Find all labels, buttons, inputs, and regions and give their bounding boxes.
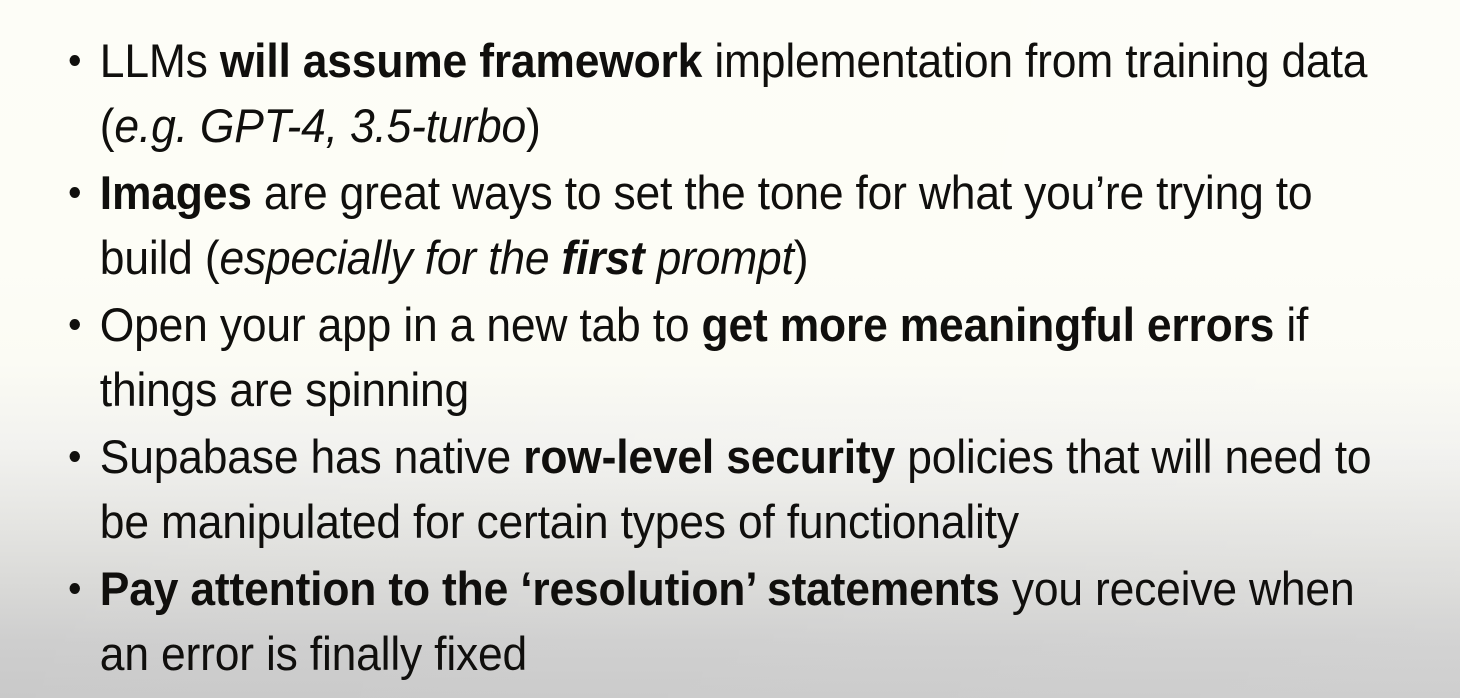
list-item: Images are great ways to set the tone fo… (62, 160, 1374, 290)
list-item: LLMs will assume framework implementatio… (62, 28, 1374, 158)
bullet-item-text: LLMs will assume framework implementatio… (100, 34, 1367, 152)
bullet-point-icon (70, 451, 80, 462)
slide-canvas: LLMs will assume framework implementatio… (0, 0, 1460, 698)
bullet-item-text: Pay attention to the ‘resolution’ statem… (100, 562, 1355, 680)
bullet-item-text: Images are great ways to set the tone fo… (100, 166, 1313, 284)
list-item: Pay attention to the ‘resolution’ statem… (62, 556, 1374, 686)
bullet-list: LLMs will assume framework implementatio… (0, 0, 1460, 686)
bullet-point-icon (70, 55, 80, 66)
list-item: Open your app in a new tab to get more m… (62, 292, 1374, 422)
bullet-item-text: Supabase has native row-level security p… (100, 430, 1372, 548)
bullet-item-text: Open your app in a new tab to get more m… (100, 298, 1308, 416)
bullet-point-icon (70, 319, 80, 330)
bullet-point-icon (70, 583, 80, 594)
bullet-point-icon (70, 187, 80, 198)
list-item: Supabase has native row-level security p… (62, 424, 1374, 554)
